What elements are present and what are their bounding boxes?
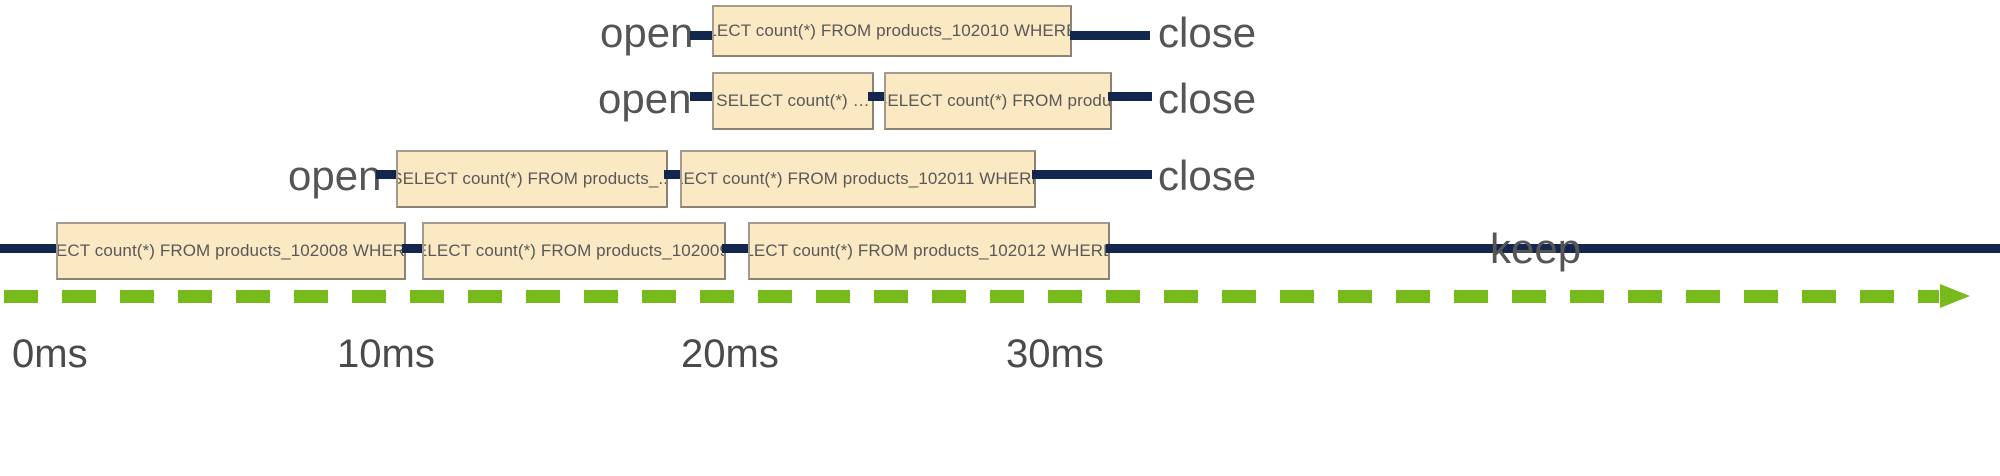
lane-2-query-box-2[interactable]: SELECT count(*) FROM produc: [884, 72, 1112, 130]
lane-1-close-label: close: [1158, 12, 1298, 54]
lane-3-query-box-1[interactable]: SELECT count(*) FROM products_...: [396, 150, 668, 208]
lane-4-query-box-1[interactable]: SELECT count(*) FROM products_102008 WHE…: [56, 222, 406, 280]
tick-label-0ms: 0ms: [12, 334, 88, 374]
lane-2-close-label: close: [1158, 78, 1298, 120]
lane-1-query-text-1: SELECT count(*) FROM products_102010 WHE…: [712, 21, 1072, 41]
tick-label-10ms: 10ms: [337, 334, 435, 374]
lane-2-open-label: open: [598, 78, 678, 120]
lane-3-lifeline-end: [1032, 170, 1152, 179]
lane-2-query-text-1: SELECT count(*) …: [712, 91, 874, 111]
lane-3-close-label: close: [1158, 155, 1298, 197]
lane-1-query-box-1[interactable]: SELECT count(*) FROM products_102010 WHE…: [712, 5, 1072, 57]
arrow-head-icon: [1940, 284, 1970, 308]
lane-3-query-box-2[interactable]: SELECT count(*) FROM products_102011 WHE…: [680, 150, 1036, 208]
timeline-diagram: open SELECT count(*) FROM products_10201…: [0, 0, 2000, 476]
tick-label-30ms: 30ms: [1006, 334, 1104, 374]
lane-4-query-box-3[interactable]: SELECT count(*) FROM products_102012 WHE…: [748, 222, 1110, 280]
lane-1-open-label: open: [600, 12, 680, 54]
lane-1-lifeline-end: [1070, 31, 1150, 40]
lane-3-query-text-1: SELECT count(*) FROM products_...: [396, 169, 668, 189]
tick-label-20ms: 20ms: [681, 334, 779, 374]
lane-3-query-text-2: SELECT count(*) FROM products_102011 WHE…: [680, 169, 1036, 189]
lane-4-lifeline-start: [0, 244, 64, 253]
lane-4-keep-label: keep: [1490, 228, 1690, 270]
time-axis-arrow: [0, 286, 2000, 308]
lane-4-query-text-2: SELECT count(*) FROM products_102009 ..: [422, 241, 726, 261]
lane-2-query-box-1[interactable]: SELECT count(*) …: [712, 72, 874, 130]
lane-4-query-text-3: SELECT count(*) FROM products_102012 WHE…: [748, 241, 1110, 261]
time-axis-dashed-line: [4, 290, 1939, 303]
lane-3-open-label: open: [288, 155, 368, 197]
lane-2-query-text-2: SELECT count(*) FROM produc: [884, 91, 1112, 111]
lane-4-query-text-1: SELECT count(*) FROM products_102008 WHE…: [56, 241, 406, 261]
lane-4-query-box-2[interactable]: SELECT count(*) FROM products_102009 ..: [422, 222, 726, 280]
lane-2-lifeline-end: [1108, 92, 1152, 101]
